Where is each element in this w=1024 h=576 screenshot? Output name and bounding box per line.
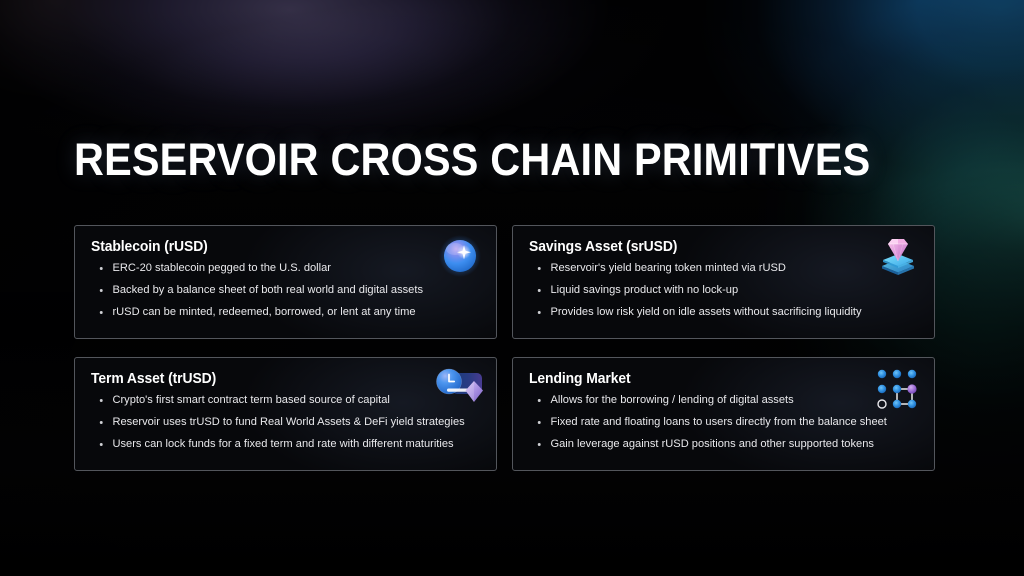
card-stablecoin[interactable]: Stablecoin (rUSD) ERC-20 stablecoin pegg… xyxy=(74,225,497,339)
list-item: ERC-20 stablecoin pegged to the U.S. dol… xyxy=(91,262,470,275)
card-title: Term Asset (trUSD) xyxy=(91,371,464,388)
slide-title: RESERVOIR CROSS CHAIN PRIMITIVES xyxy=(74,134,870,186)
list-item: Users can lock funds for a fixed term an… xyxy=(91,438,470,451)
card-title: Stablecoin (rUSD) xyxy=(91,239,464,256)
card-bullet-list: Reservoir's yield bearing token minted v… xyxy=(529,262,918,319)
presentation-slide: RESERVOIR CROSS CHAIN PRIMITIVES Stablec… xyxy=(0,0,1024,576)
card-bullet-list: Crypto's first smart contract term based… xyxy=(91,394,480,451)
list-item: Reservoir's yield bearing token minted v… xyxy=(529,262,908,275)
list-item: Crypto's first smart contract term based… xyxy=(91,394,470,407)
list-item: Reservoir uses trUSD to fund Real World … xyxy=(91,416,470,429)
primitives-card-grid: Stablecoin (rUSD) ERC-20 stablecoin pegg… xyxy=(74,225,935,471)
card-bullet-list: Allows for the borrowing / lending of di… xyxy=(529,394,918,451)
card-lending-market[interactable]: Lending Market Allows for the borrowing … xyxy=(512,357,935,471)
list-item: Liquid savings product with no lock-up xyxy=(529,284,908,297)
card-bullet-list: ERC-20 stablecoin pegged to the U.S. dol… xyxy=(91,262,480,319)
list-item: Provides low risk yield on idle assets w… xyxy=(529,306,908,319)
list-item: Fixed rate and floating loans to users d… xyxy=(529,416,908,429)
card-savings-asset[interactable]: Savings Asset (srUSD) Reservoir's yield … xyxy=(512,225,935,339)
list-item: Backed by a balance sheet of both real w… xyxy=(91,284,470,297)
card-title: Lending Market xyxy=(529,371,902,388)
list-item: Allows for the borrowing / lending of di… xyxy=(529,394,908,407)
card-term-asset[interactable]: Term Asset (trUSD) Crypto's first smart … xyxy=(74,357,497,471)
list-item: rUSD can be minted, redeemed, borrowed, … xyxy=(91,306,470,319)
list-item: Gain leverage against rUSD positions and… xyxy=(529,438,908,451)
card-title: Savings Asset (srUSD) xyxy=(529,239,902,256)
